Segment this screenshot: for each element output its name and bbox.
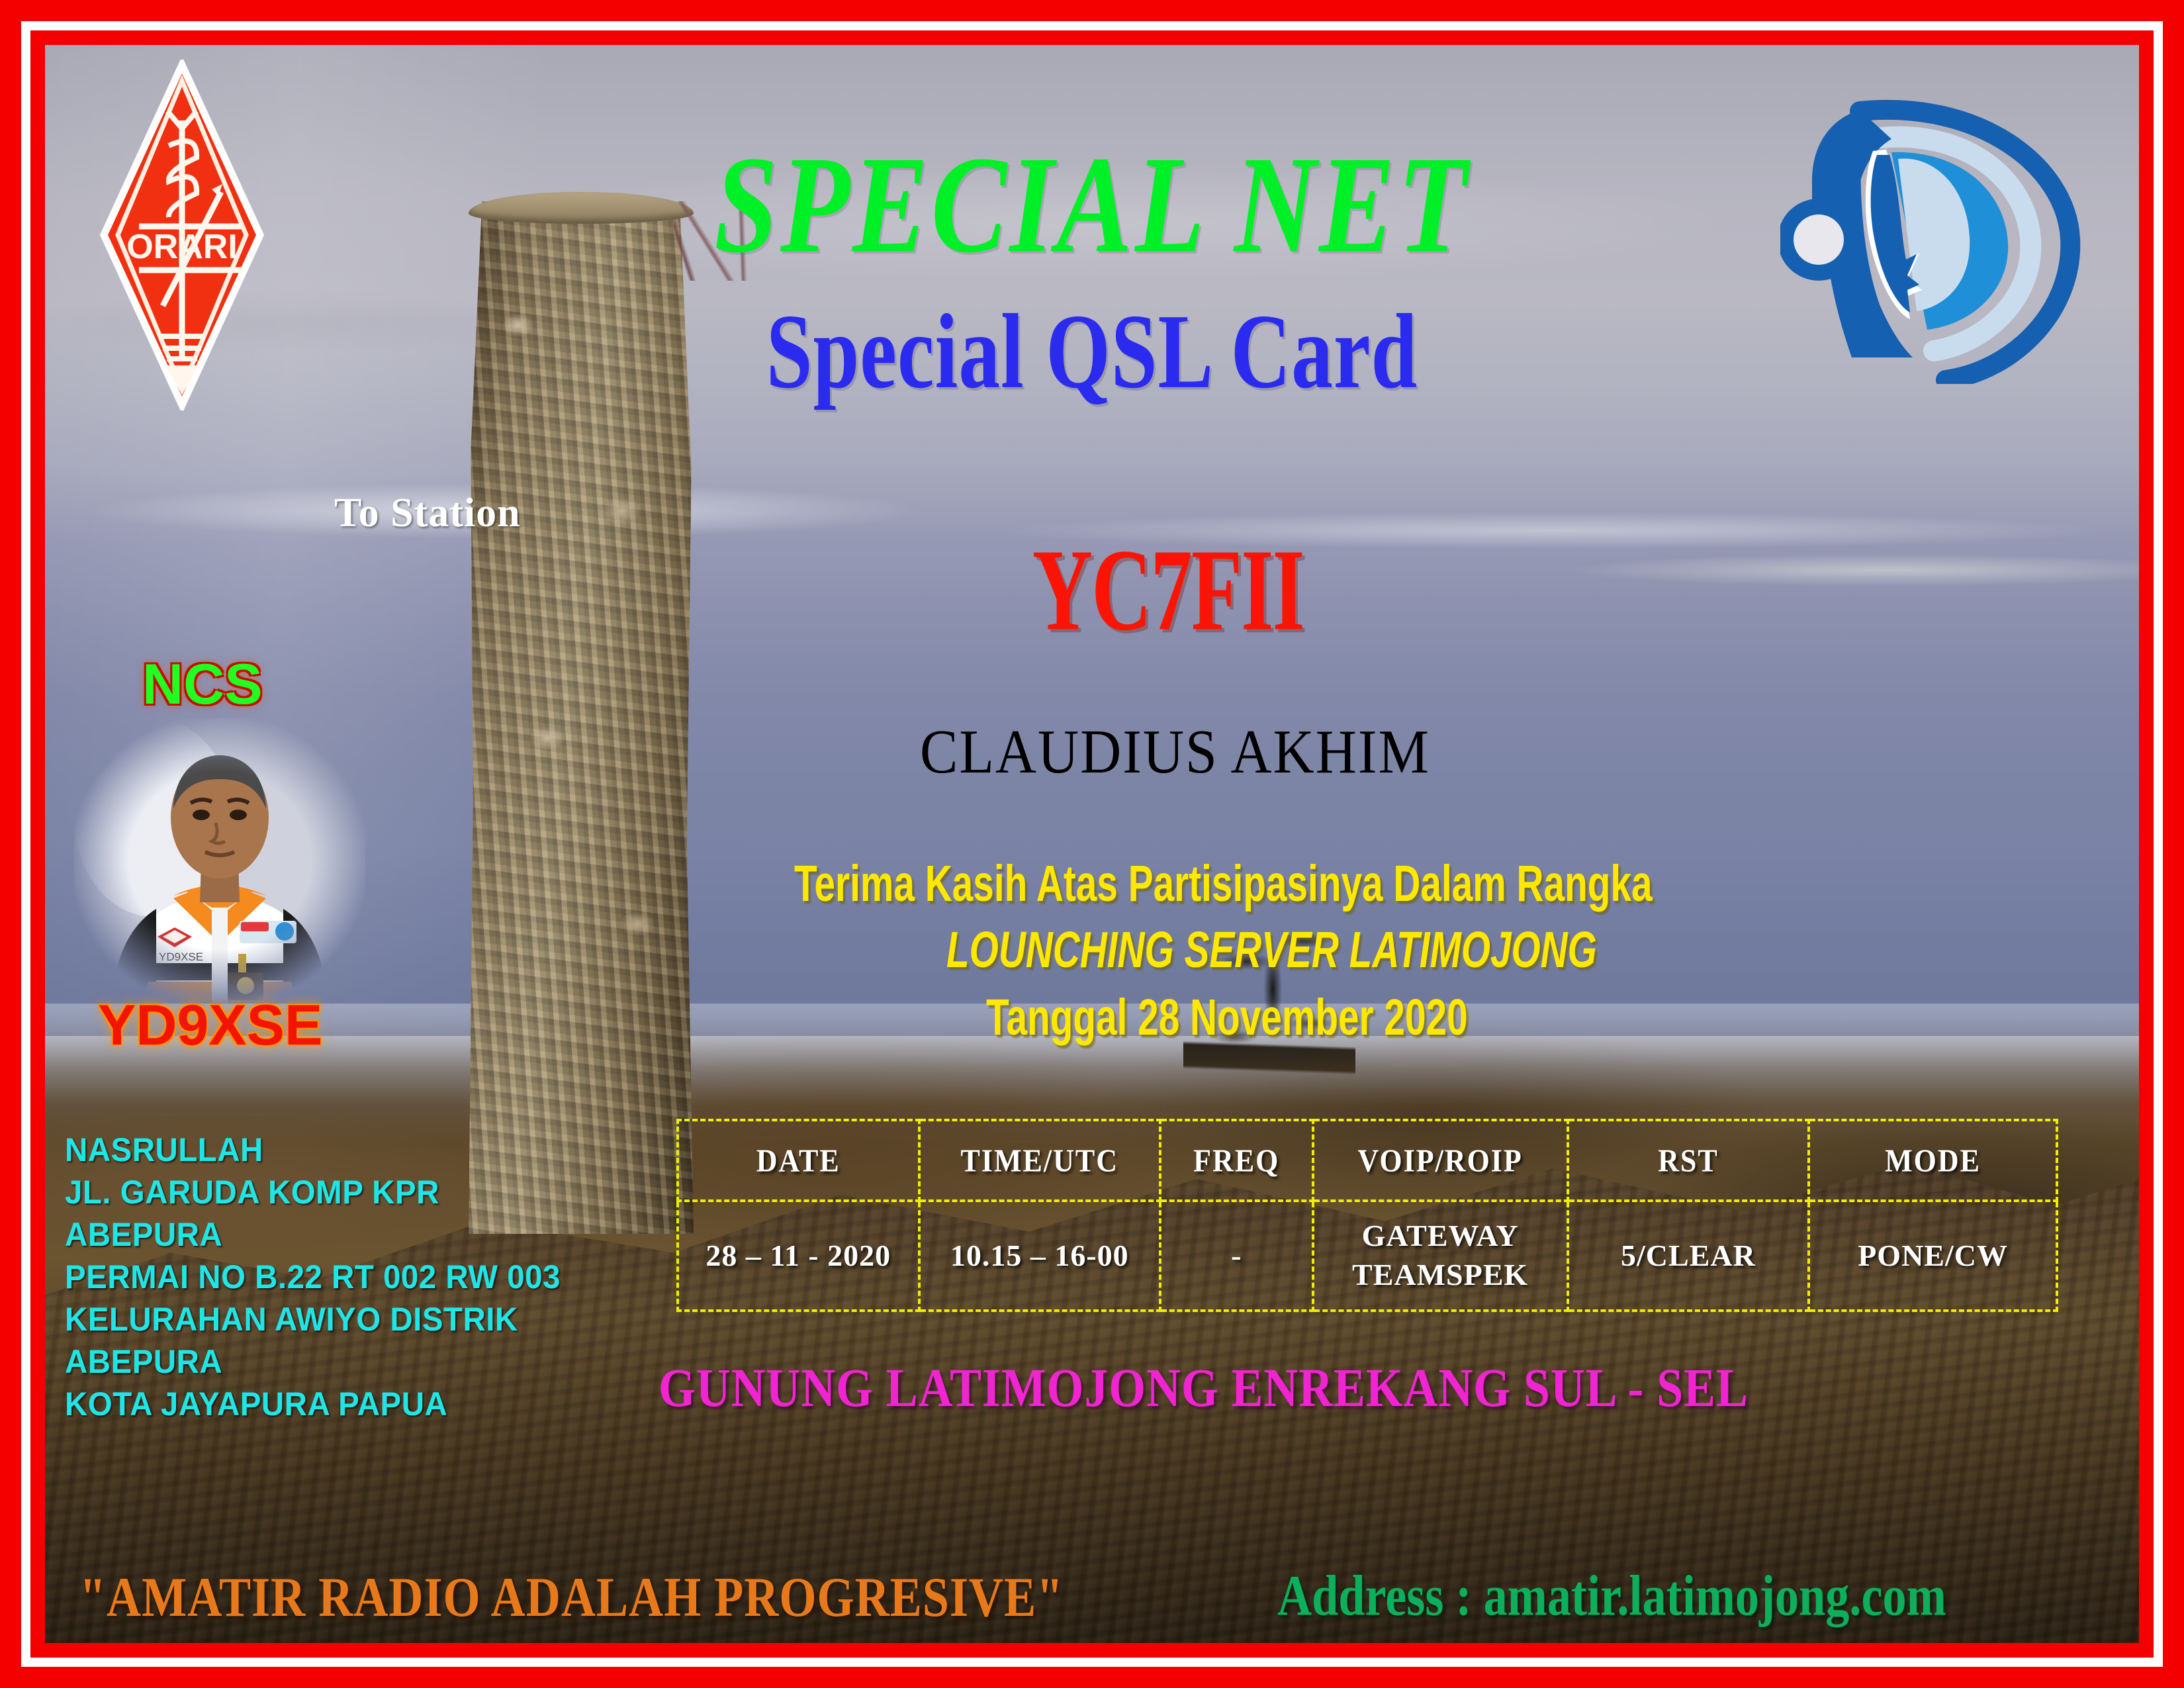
inner-red-border [30,30,2154,1658]
qsl-card: ORARI [0,0,2184,1688]
